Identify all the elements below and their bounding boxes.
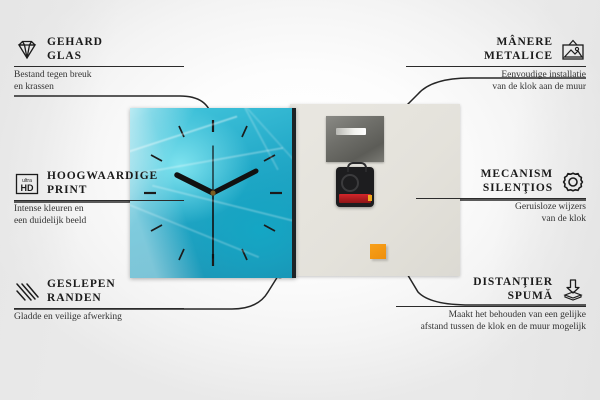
feature-sub-2: een duidelijk beeld	[14, 216, 184, 228]
feature-title-2: SPUMĂ	[473, 290, 553, 304]
silent-clock-mechanism	[336, 167, 374, 207]
diagonal-lines-icon	[14, 280, 40, 304]
feature-sub-1: Intense kleuren en	[14, 204, 184, 216]
diamond-icon	[14, 38, 40, 62]
svg-text:HD: HD	[21, 183, 34, 193]
feature-rule	[396, 306, 586, 307]
feature-rule	[14, 200, 184, 201]
feature-title: GESLEPEN	[47, 278, 116, 292]
feature-mecanism-silentios: MECANISM SILENŢIOS Geruisloze wijzers va…	[416, 168, 586, 225]
feature-title-2: RANDEN	[47, 292, 116, 306]
feature-geslepen-randen: GESLEPEN RANDEN Gladde en veilige afwerk…	[14, 278, 184, 324]
feature-title: HOOGWAARDIGE	[47, 170, 158, 184]
feature-rule	[416, 198, 586, 199]
feature-sub-1: Gladde en veilige afwerking	[14, 312, 184, 324]
metal-wall-hanger-plate	[326, 116, 384, 162]
mechanism-hook	[347, 162, 367, 172]
ultra-hd-icon: ultra HD	[14, 172, 40, 196]
picture-hanger-icon	[560, 38, 586, 62]
feature-sub-1: Geruisloze wijzers	[416, 202, 586, 214]
foam-spacer-arrow-icon	[560, 278, 586, 302]
feature-title: MÂNERE	[484, 36, 553, 50]
feature-title-2: SILENŢIOS	[481, 182, 553, 196]
feature-title: GEHARD	[47, 36, 103, 50]
feature-sub-1: Eenvoudige installatie	[406, 70, 586, 82]
feature-manere-metalice: MÂNERE METALICE Eenvoudige installatie v…	[406, 36, 586, 93]
feature-rule	[14, 308, 184, 309]
feature-title-2: GLAS	[47, 50, 103, 64]
feature-hoogwaardige-print: ultra HD HOOGWAARDIGE PRINT Intense kleu…	[14, 170, 184, 227]
feature-gehard-glas: GEHARD GLAS Bestand tegen breuk en krass…	[14, 36, 184, 93]
feature-sub-2: van de klok	[416, 214, 586, 226]
feature-title: DISTANŢIER	[473, 276, 553, 290]
hanger-slot	[336, 128, 366, 135]
feature-sub-2: van de klok aan de muur	[406, 82, 586, 94]
feature-title-2: METALICE	[484, 50, 553, 64]
aa-battery	[339, 194, 371, 203]
feature-title-2: PRINT	[47, 184, 158, 198]
feature-rule	[14, 66, 184, 67]
gear-icon	[560, 170, 586, 194]
feature-sub-1: Bestand tegen breuk	[14, 70, 184, 82]
orange-foam-spacer	[370, 244, 386, 259]
clock-glass-edge	[292, 108, 296, 278]
feature-distantier-spuma: DISTANŢIER SPUMĂ Maakt het behouden van …	[396, 276, 586, 333]
feature-rule	[406, 66, 586, 67]
feature-title: MECANISM	[481, 168, 553, 182]
infographic-canvas: GEHARD GLAS Bestand tegen breuk en krass…	[0, 0, 600, 400]
feature-sub-2: afstand tussen de klok en de muur mogeli…	[396, 322, 586, 334]
feature-sub-2: en krassen	[14, 82, 184, 94]
mechanism-dial	[341, 174, 359, 192]
feature-sub-1: Maakt het behouden van een gelijke	[396, 310, 586, 322]
